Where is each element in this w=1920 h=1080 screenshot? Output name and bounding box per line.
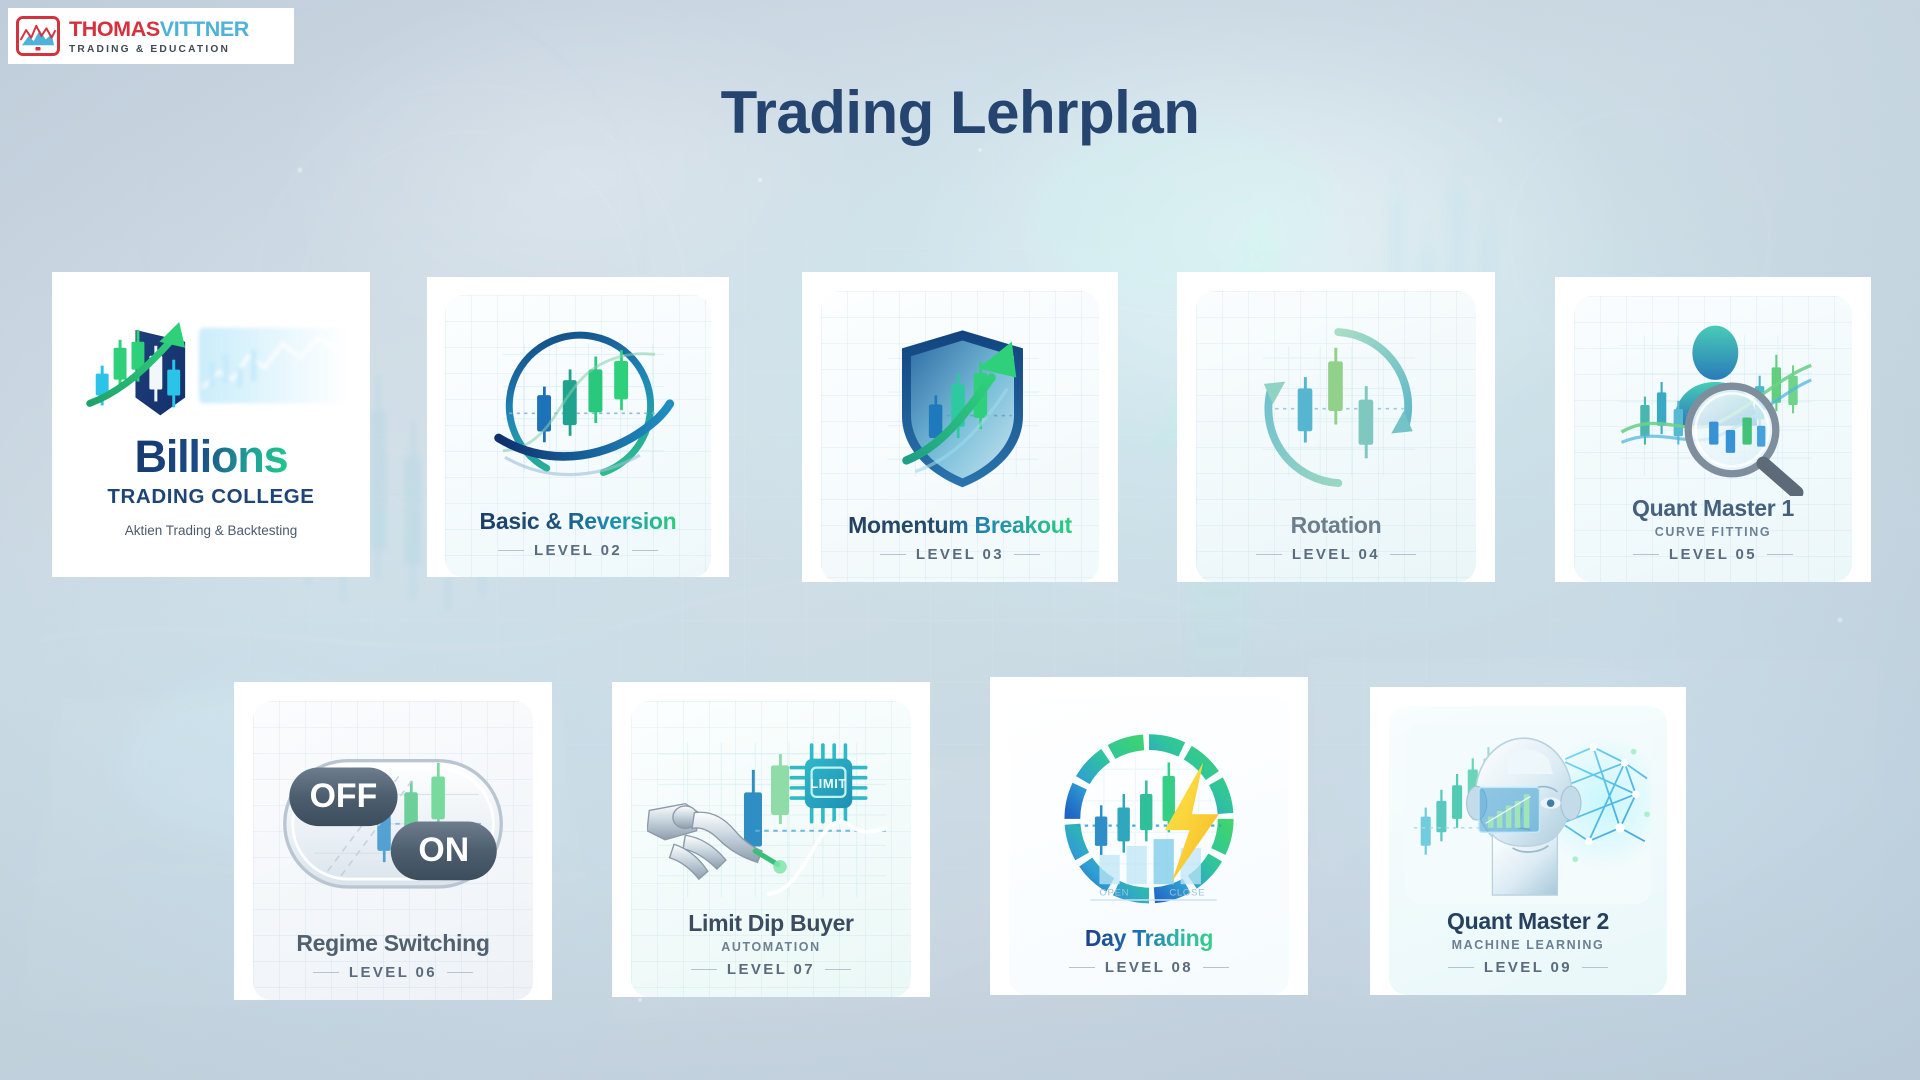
- magnifier-analyst-chart-icon: [1590, 309, 1836, 497]
- card-title: Regime Switching: [296, 930, 489, 956]
- card-title: Rotation: [1291, 512, 1382, 538]
- brand-logo-text: THOMASVITTNER TRADING & EDUCATION: [69, 17, 249, 55]
- card-title: Limit Dip Buyer: [688, 910, 853, 936]
- card-title: Basic & Reversion: [480, 508, 677, 534]
- card-momentum-breakout[interactable]: Momentum Breakout LEVEL 03: [802, 272, 1118, 582]
- card-level: LEVEL 09: [1405, 959, 1651, 976]
- card-rotation[interactable]: Rotation LEVEL 04: [1177, 272, 1495, 582]
- card-tile: LIMIT: [631, 701, 911, 997]
- card-tile: Momentum Breakout LEVEL 03: [821, 291, 1099, 582]
- card-level-label: LEVEL 06: [349, 964, 437, 981]
- page-title: Trading Lehrplan: [0, 78, 1920, 147]
- brand-logo[interactable]: THOMASVITTNER TRADING & EDUCATION: [8, 8, 294, 64]
- card-tile: OFF ON Regime Switching LEVEL 06: [253, 701, 533, 1000]
- card-day-trading[interactable]: OPEN CLOSE Day Trading LEVEL 08: [990, 677, 1308, 995]
- card-level-label: LEVEL 03: [916, 546, 1004, 563]
- card-level-label: LEVEL 05: [1669, 546, 1757, 563]
- candlestick-arrow-growth-icon: [52, 312, 370, 428]
- card-level: LEVEL 08: [1025, 959, 1273, 976]
- rotating-arrows-candlestick-icon: [1212, 304, 1460, 513]
- card-tile: Rotation LEVEL 04: [1196, 291, 1476, 582]
- card-quant-master-2[interactable]: Quant Master 2 MACHINE LEARNING LEVEL 09: [1370, 687, 1686, 995]
- toggle-on-label: ON: [418, 831, 469, 869]
- card-tile: Quant Master 2 MACHINE LEARNING LEVEL 09: [1389, 706, 1667, 995]
- card-level-label: LEVEL 04: [1292, 546, 1380, 563]
- robot-hand-limit-chip-icon: LIMIT: [647, 714, 895, 911]
- card-tile: OPEN CLOSE Day Trading LEVEL 08: [1009, 696, 1289, 995]
- shield-arrow-breakout-icon: [837, 304, 1083, 514]
- card-limit-dip-buyer[interactable]: LIMIT: [612, 682, 930, 997]
- brand-name-part2: VITTNER: [160, 17, 249, 41]
- circle-candlestick-curve-icon: [460, 307, 696, 509]
- billions-subtitle: TRADING COLLEGE: [52, 485, 370, 509]
- billions-name: Billions: [135, 431, 288, 482]
- ai-robot-head-neural-icon: [1405, 719, 1651, 910]
- card-subtitle: AUTOMATION: [647, 940, 895, 954]
- gauge-open-label: OPEN: [1099, 887, 1129, 898]
- billions-tagline: Aktien Trading & Backtesting: [52, 523, 370, 538]
- card-level: LEVEL 06: [269, 964, 517, 981]
- toggle-off-label: OFF: [310, 777, 378, 815]
- gauge-lightning-candlestick-icon: OPEN CLOSE: [1025, 709, 1273, 926]
- card-level-label: LEVEL 09: [1484, 959, 1572, 976]
- card-subtitle: MACHINE LEARNING: [1405, 938, 1651, 952]
- card-level: LEVEL 02: [460, 542, 696, 559]
- brand-name-part1: THOMAS: [69, 17, 160, 41]
- card-billions[interactable]: Billions TRADING COLLEGE Aktien Trading …: [52, 272, 370, 577]
- brand-tagline: TRADING & EDUCATION: [69, 45, 249, 55]
- card-title: Momentum Breakout: [848, 512, 1072, 538]
- card-regime-switching[interactable]: OFF ON Regime Switching LEVEL 06: [234, 682, 552, 1000]
- card-level: LEVEL 07: [647, 961, 895, 978]
- card-level: LEVEL 05: [1590, 546, 1836, 563]
- card-subtitle: CURVE FITTING: [1590, 525, 1836, 539]
- card-level: LEVEL 03: [837, 546, 1083, 563]
- card-level: LEVEL 04: [1212, 546, 1460, 563]
- chip-label: LIMIT: [810, 776, 847, 791]
- toggle-switch-off-on-icon: OFF ON: [269, 714, 517, 931]
- chart-mountain-icon: [16, 16, 60, 56]
- card-title: Quant Master 1: [1632, 495, 1794, 521]
- gauge-close-label: CLOSE: [1169, 887, 1205, 898]
- card-title: Quant Master 2: [1447, 908, 1609, 934]
- card-title: Day Trading: [1085, 925, 1213, 951]
- card-quant-master-1[interactable]: Quant Master 1 CURVE FITTING LEVEL 05: [1555, 277, 1871, 582]
- card-level-label: LEVEL 08: [1105, 959, 1193, 976]
- card-level-label: LEVEL 07: [727, 961, 815, 978]
- card-level-label: LEVEL 02: [534, 542, 622, 559]
- card-basic-reversion[interactable]: Basic & Reversion LEVEL 02: [427, 277, 729, 577]
- card-tile: Quant Master 1 CURVE FITTING LEVEL 05: [1574, 296, 1852, 582]
- card-tile: Basic & Reversion LEVEL 02: [445, 295, 711, 577]
